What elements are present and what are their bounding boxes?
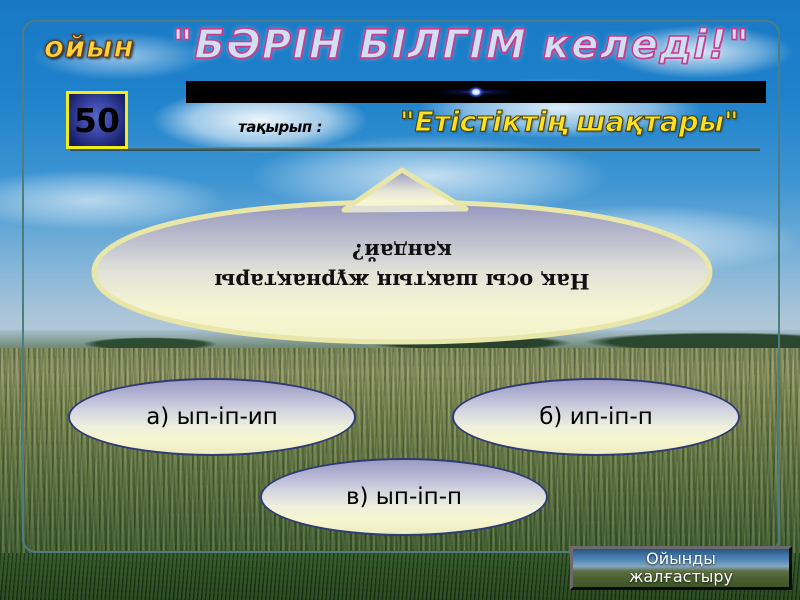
answer-option-v[interactable]: в) ып-іп-п [260, 458, 548, 536]
page-title: "БӘРІН БІЛГІМ келеді!" [172, 22, 750, 68]
topic-value: "Етістіктің шақтары" [400, 105, 739, 138]
continue-line-2: жалғастыру [629, 567, 733, 586]
title-underbar [186, 81, 766, 103]
continue-line-1: Ойынды [646, 549, 716, 568]
continue-game-button[interactable]: Ойындыжалғастыру [570, 546, 792, 590]
answer-option-a[interactable]: а) ып-іп-ип [68, 378, 356, 456]
question-line-2: қандай? [88, 235, 716, 265]
quiz-slide: ойын "БӘРІН БІЛГІМ келеді!" тақырып : "Е… [0, 0, 800, 600]
question-text: Нақ осы шақтың жұрнақтары қандай? [88, 235, 716, 296]
answer-option-v-label: в) ып-іп-п [346, 484, 462, 510]
topic-label: тақырып : [238, 118, 322, 136]
game-word-label: ойын [44, 30, 135, 64]
sparkle-icon [433, 84, 519, 100]
answer-option-b-label: б) ип-іп-п [539, 404, 653, 430]
question-line-1: Нақ осы шақтың жұрнақтары [88, 266, 716, 296]
header-divider [70, 147, 760, 151]
score-value: 50 [74, 104, 120, 137]
answer-option-a-label: а) ып-іп-ип [146, 404, 278, 430]
answer-option-b[interactable]: б) ип-іп-п [452, 378, 740, 456]
question-callout: Нақ осы шақтың жұрнақтары қандай? [88, 166, 716, 348]
score-badge: 50 [66, 91, 128, 149]
continue-game-label: Ойындыжалғастыру [629, 550, 733, 585]
